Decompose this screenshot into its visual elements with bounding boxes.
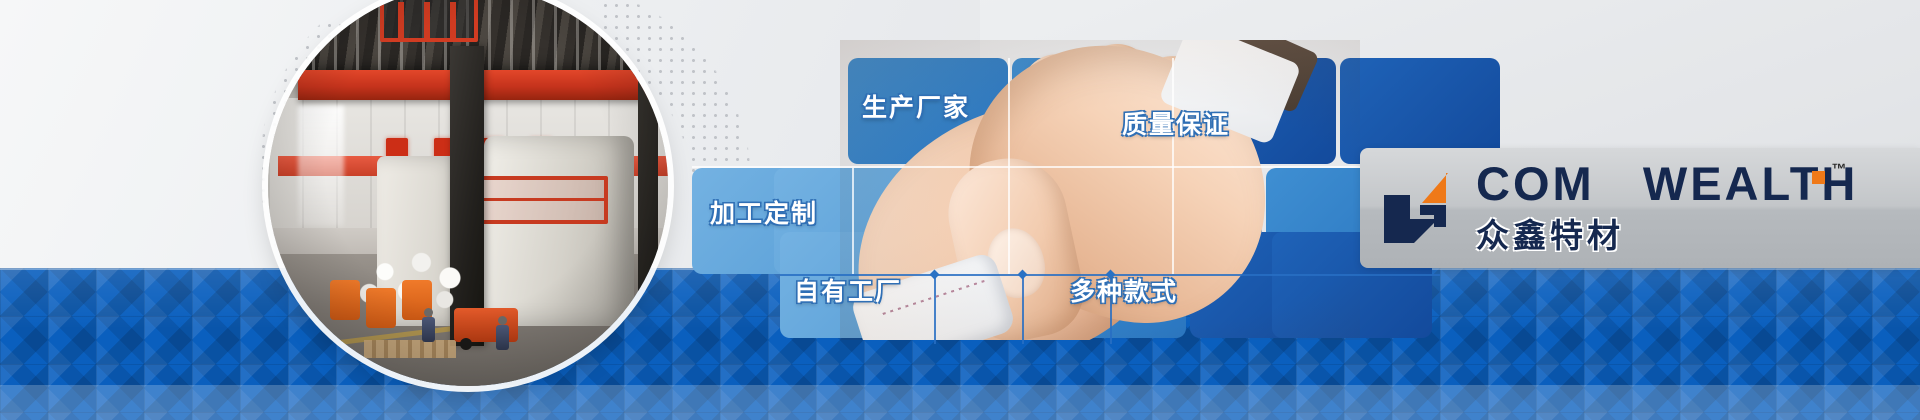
band-light-strip — [0, 385, 1920, 420]
grid-line-v4 — [934, 274, 936, 344]
promo-banner: 生产厂家 质量保证 加工定制 自有工厂 多种款式 COM WEALTH ™ 众鑫… — [0, 0, 1920, 420]
logo-english-word-1: COM — [1476, 157, 1595, 210]
grid-line-v6 — [1110, 274, 1112, 344]
handshake-photo — [840, 40, 1360, 340]
logo-accent-square — [1812, 171, 1825, 184]
logo-english-word-2: WEALTH — [1643, 157, 1859, 210]
factory-interior-photo — [268, 0, 668, 386]
brand-logo-plate: COM WEALTH ™ 众鑫特材 — [1360, 148, 1920, 268]
z-monogram-icon — [1376, 165, 1462, 251]
trademark-icon: ™ — [1831, 162, 1849, 177]
grid-line-v3 — [852, 168, 854, 274]
grid-line-v5 — [1022, 274, 1024, 344]
logo-chinese-text: 众鑫特材 — [1476, 209, 1825, 257]
logo-english-text: COM WEALTH ™ — [1476, 160, 1825, 207]
grid-line-h1 — [692, 166, 1434, 168]
